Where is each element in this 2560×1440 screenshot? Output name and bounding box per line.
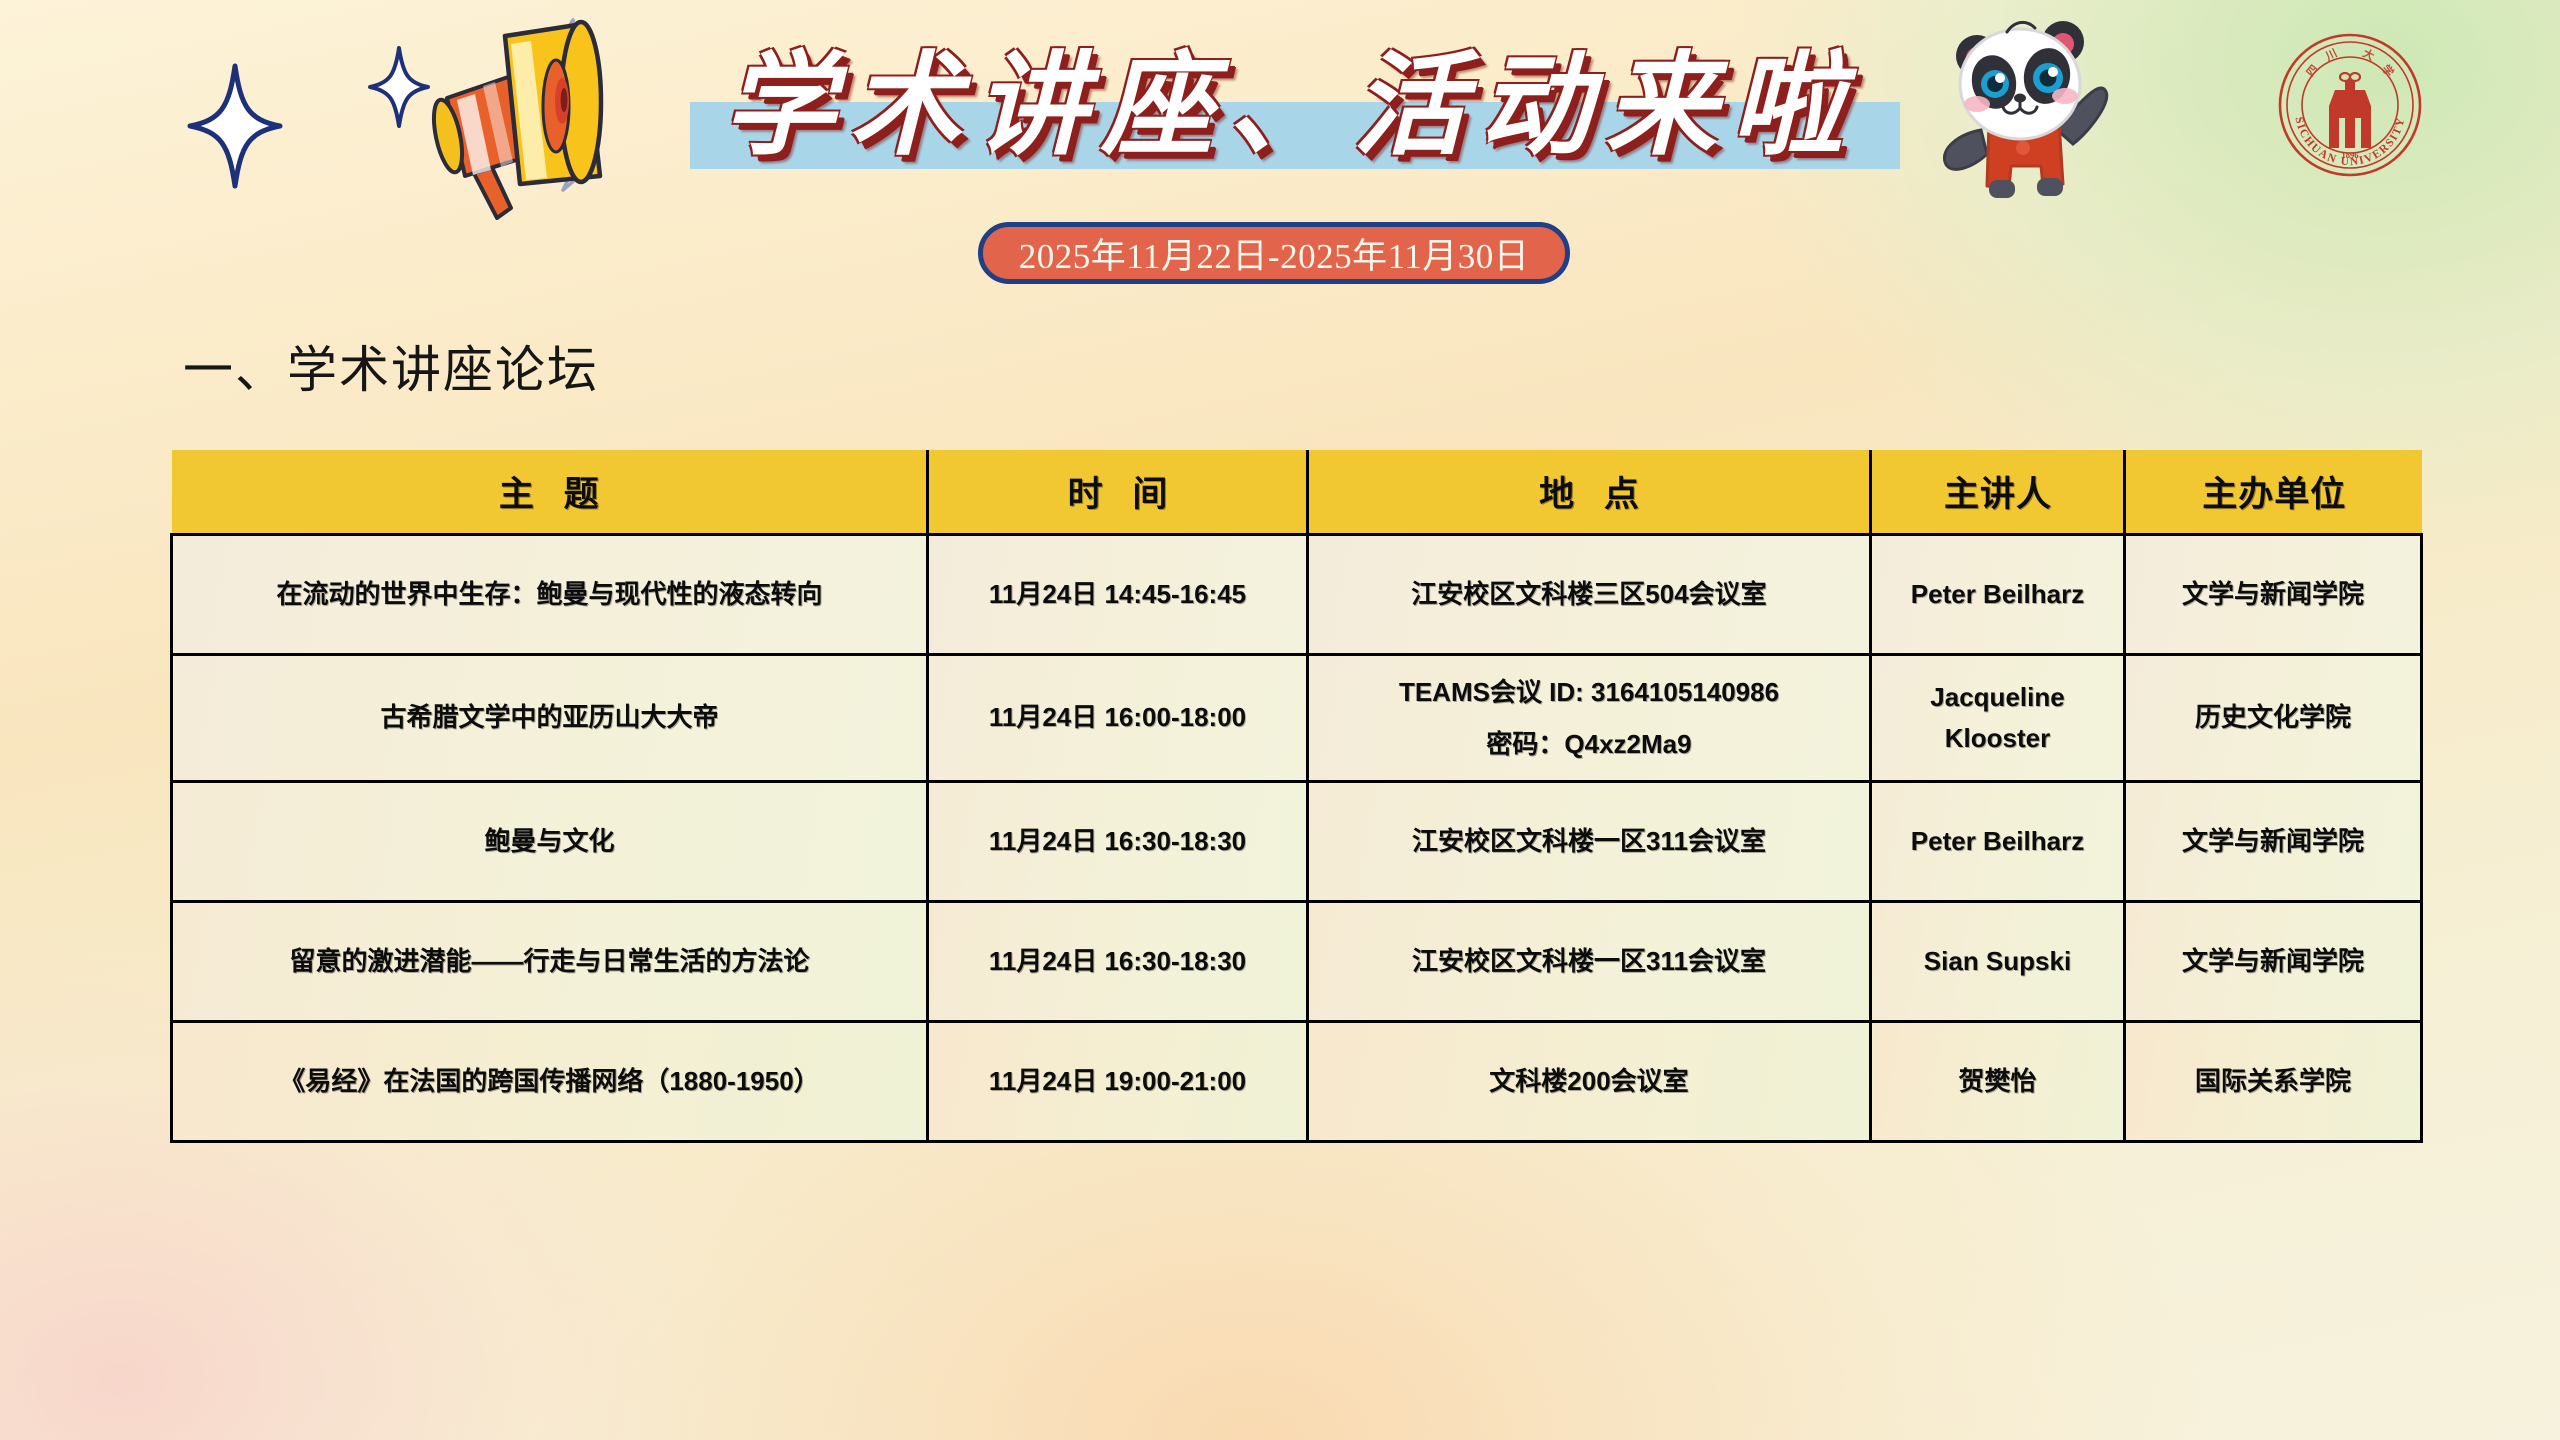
cell-speaker: 贺樊怡 [1871,1021,2125,1141]
cell-topic: 在流动的世界中生存：鲍曼与现代性的液态转向 [172,534,928,654]
cell-topic: 《易经》在法国的跨国传播网络（1880-1950） [172,1021,928,1141]
cell-place: 江安校区文科楼一区311会议室 [1308,781,1871,901]
column-header-place: 地 点 [1308,450,1871,534]
poster-title-group: 学术讲座、活动来啦 [660,22,1920,197]
panda-mascot-icon [1915,2,2135,224]
logo-year: 1896 [2342,150,2359,160]
column-header-speaker: 主讲人 [1871,450,2125,534]
cell-organizer: 文学与新闻学院 [2125,534,2422,654]
schedule-table: 主 题 时 间 地 点 主讲人 主办单位 在流动的世界中生存：鲍曼与现代性的液态… [170,450,2423,1143]
column-header-topic: 主 题 [172,450,928,534]
cell-speaker-line1: Jacqueline [1886,677,2109,717]
sparkle-star-icon [368,46,430,128]
svg-text:川: 川 [2323,47,2339,64]
cell-place: 江安校区文科楼三区504会议室 [1308,534,1871,654]
poster-canvas: 1896 四 川 大 学 SICHUAN UNIVERSITY 学术讲座、活动来… [0,0,2560,1440]
table-row: 《易经》在法国的跨国传播网络（1880-1950） 11月24日 19:00-2… [172,1021,2422,1141]
sichuan-university-logo: 1896 四 川 大 学 SICHUAN UNIVERSITY [2275,30,2425,180]
table-row: 在流动的世界中生存：鲍曼与现代性的液态转向 11月24日 14:45-16:45… [172,534,2422,654]
cell-speaker: Peter Beilharz [1871,534,2125,654]
column-header-time: 时 间 [928,450,1308,534]
cell-organizer: 文学与新闻学院 [2125,781,2422,901]
cell-organizer: 国际关系学院 [2125,1021,2422,1141]
logo-bottom-text: SICHUAN UNIVERSITY [2292,116,2407,169]
cell-speaker: Jacqueline Klooster [1871,654,2125,781]
cell-time: 11月24日 19:00-21:00 [928,1021,1308,1141]
svg-text:大: 大 [2361,46,2377,63]
page-title: 学术讲座、活动来啦 [660,22,1920,192]
sparkle-star-icon [187,63,283,189]
cell-topic: 鲍曼与文化 [172,781,928,901]
cell-place-line2: 密码：Q4xz2Ma9 [1323,718,1855,770]
cell-speaker-line2: Klooster [1886,718,2109,758]
schedule-table-wrap: 主 题 时 间 地 点 主讲人 主办单位 在流动的世界中生存：鲍曼与现代性的液态… [170,450,2420,1143]
column-header-organizer: 主办单位 [2125,450,2422,534]
date-range-badge: 2025年11月22日-2025年11月30日 [978,222,1570,284]
table-row: 鲍曼与文化 11月24日 16:30-18:30 江安校区文科楼一区311会议室… [172,781,2422,901]
cell-place: 江安校区文科楼一区311会议室 [1308,901,1871,1021]
cell-time: 11月24日 16:00-18:00 [928,654,1308,781]
cell-topic: 留意的激进潜能——行走与日常生活的方法论 [172,901,928,1021]
cell-topic: 古希腊文学中的亚历山大大帝 [172,654,928,781]
table-row: 古希腊文学中的亚历山大大帝 11月24日 16:00-18:00 TEAMS会议… [172,654,2422,781]
svg-text:学: 学 [2379,62,2397,79]
cell-organizer: 历史文化学院 [2125,654,2422,781]
cell-speaker: Peter Beilharz [1871,781,2125,901]
cell-time: 11月24日 16:30-18:30 [928,781,1308,901]
megaphone-icon [315,8,645,223]
section-heading: 一、学术讲座论坛 [183,330,599,402]
cell-time: 11月24日 16:30-18:30 [928,901,1308,1021]
svg-text:四: 四 [2304,62,2321,79]
cell-place-line1: TEAMS会议 ID: 3164105140986 [1323,666,1855,718]
cell-place: TEAMS会议 ID: 3164105140986 密码：Q4xz2Ma9 [1308,654,1871,781]
cell-place: 文科楼200会议室 [1308,1021,1871,1141]
table-row: 留意的激进潜能——行走与日常生活的方法论 11月24日 16:30-18:30 … [172,901,2422,1021]
cell-time: 11月24日 14:45-16:45 [928,534,1308,654]
date-range-text: 2025年11月22日-2025年11月30日 [1019,228,1530,279]
cell-speaker: Sian Supski [1871,901,2125,1021]
table-header-row: 主 题 时 间 地 点 主讲人 主办单位 [172,450,2422,534]
cell-organizer: 文学与新闻学院 [2125,901,2422,1021]
